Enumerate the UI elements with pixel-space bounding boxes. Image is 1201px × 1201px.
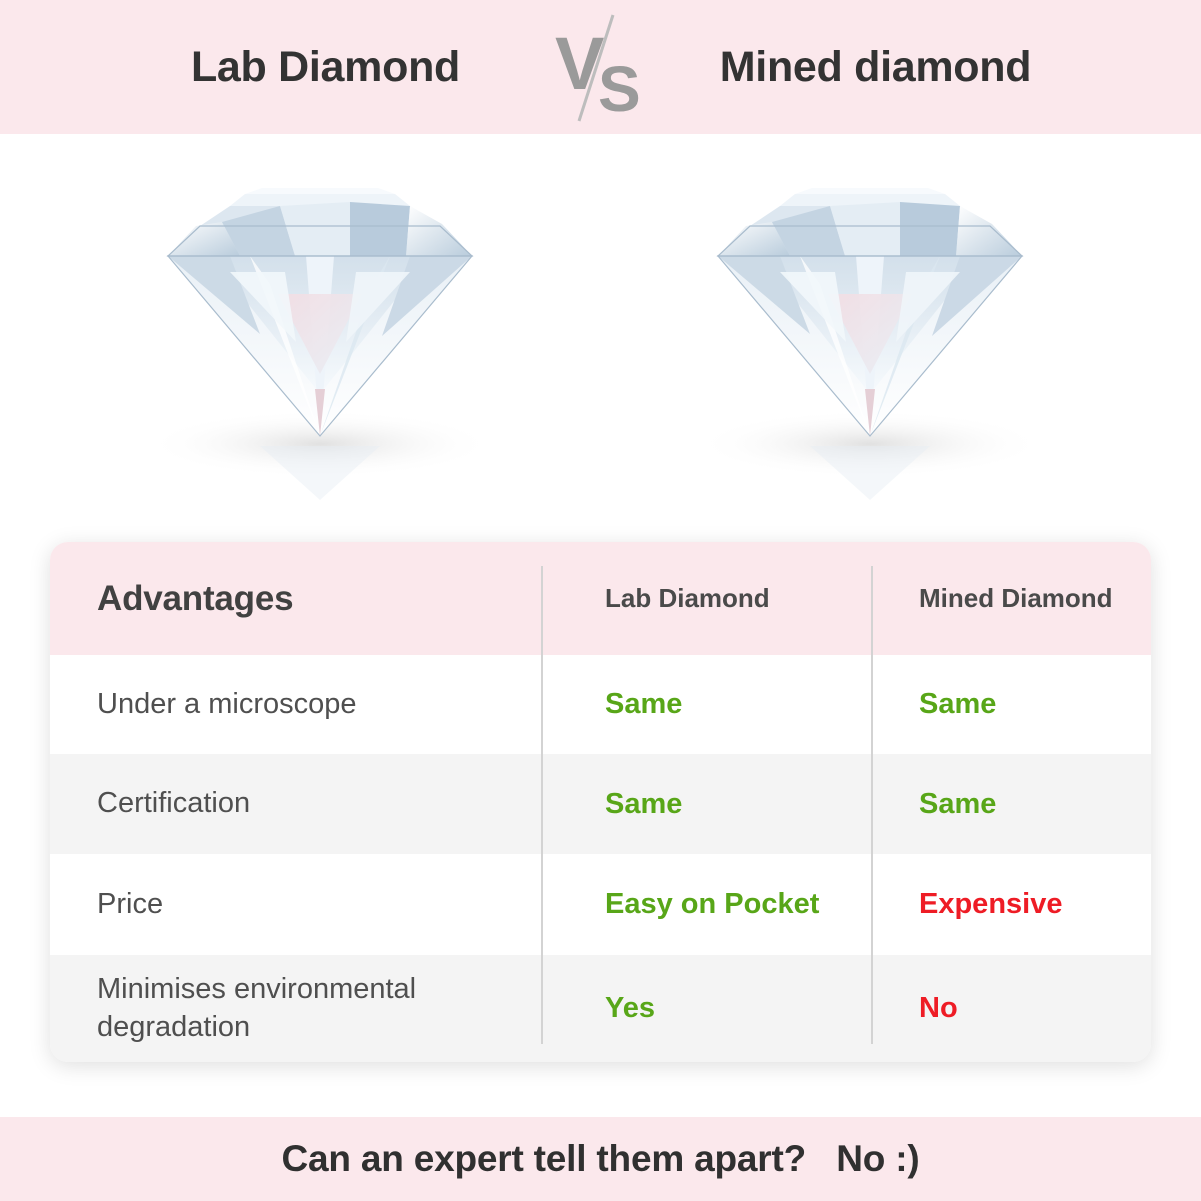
- diamond-images-area: [0, 134, 1201, 534]
- row-mined-cell: Same: [871, 788, 1151, 821]
- row-mined-cell: Same: [871, 688, 1151, 721]
- row-feature-label: Certification: [97, 787, 250, 819]
- footer-text: Can an expert tell them apart? No :): [282, 1138, 920, 1180]
- row-feature-label: Minimises environmental degradation: [97, 973, 416, 1043]
- table-row: Price Easy on Pocket Expensive: [50, 854, 1151, 955]
- lab-diamond-image: [110, 144, 530, 524]
- vs-icon: V S: [541, 7, 661, 127]
- row-lab-value: Yes: [605, 992, 655, 1024]
- row-feature-label: Price: [97, 888, 163, 920]
- comparison-table-card: Advantages Lab Diamond Mined Diamond Und…: [50, 542, 1151, 1062]
- header-title-mined: Mined diamond: [661, 43, 1091, 92]
- row-mined-value: Same: [919, 688, 996, 720]
- row-feature-label: Under a microscope: [97, 688, 357, 720]
- row-mined-value: Expensive: [919, 888, 1062, 920]
- row-lab-cell: Same: [541, 788, 871, 821]
- table-header-feature-label: Advantages: [97, 579, 293, 618]
- row-feature-cell: Under a microscope: [50, 686, 541, 724]
- row-lab-cell: Yes: [541, 992, 871, 1025]
- row-lab-cell: Same: [541, 688, 871, 721]
- table-header-lab-label: Lab Diamond: [605, 583, 770, 613]
- table-header-feature: Advantages: [50, 579, 541, 619]
- table-header-lab: Lab Diamond: [541, 583, 871, 614]
- header-band: Lab Diamond V S Mined diamond: [0, 0, 1201, 134]
- table-header-row: Advantages Lab Diamond Mined Diamond: [50, 542, 1151, 655]
- row-feature-cell: Certification: [50, 785, 541, 823]
- row-mined-cell: No: [871, 992, 1151, 1025]
- mined-diamond-image: [660, 144, 1080, 524]
- row-lab-value: Easy on Pocket: [605, 888, 819, 920]
- row-lab-value: Same: [605, 688, 682, 720]
- table-row: Minimises environmental degradation Yes …: [50, 955, 1151, 1062]
- svg-text:S: S: [598, 53, 641, 125]
- row-feature-cell: Price: [50, 886, 541, 924]
- header-title-lab: Lab Diamond: [111, 43, 541, 92]
- column-divider-2: [871, 566, 873, 1044]
- row-mined-value: Same: [919, 788, 996, 820]
- footer-band: Can an expert tell them apart? No :): [0, 1117, 1201, 1201]
- table-row: Certification Same Same: [50, 754, 1151, 854]
- row-lab-cell: Easy on Pocket: [541, 888, 871, 921]
- column-divider-1: [541, 566, 543, 1044]
- row-mined-cell: Expensive: [871, 888, 1151, 921]
- row-lab-value: Same: [605, 788, 682, 820]
- table-row: Under a microscope Same Same: [50, 655, 1151, 754]
- row-mined-value: No: [919, 992, 958, 1024]
- table-header-mined-label: Mined Diamond: [919, 583, 1113, 613]
- row-feature-cell: Minimises environmental degradation: [50, 971, 541, 1046]
- table-header-mined: Mined Diamond: [871, 583, 1151, 614]
